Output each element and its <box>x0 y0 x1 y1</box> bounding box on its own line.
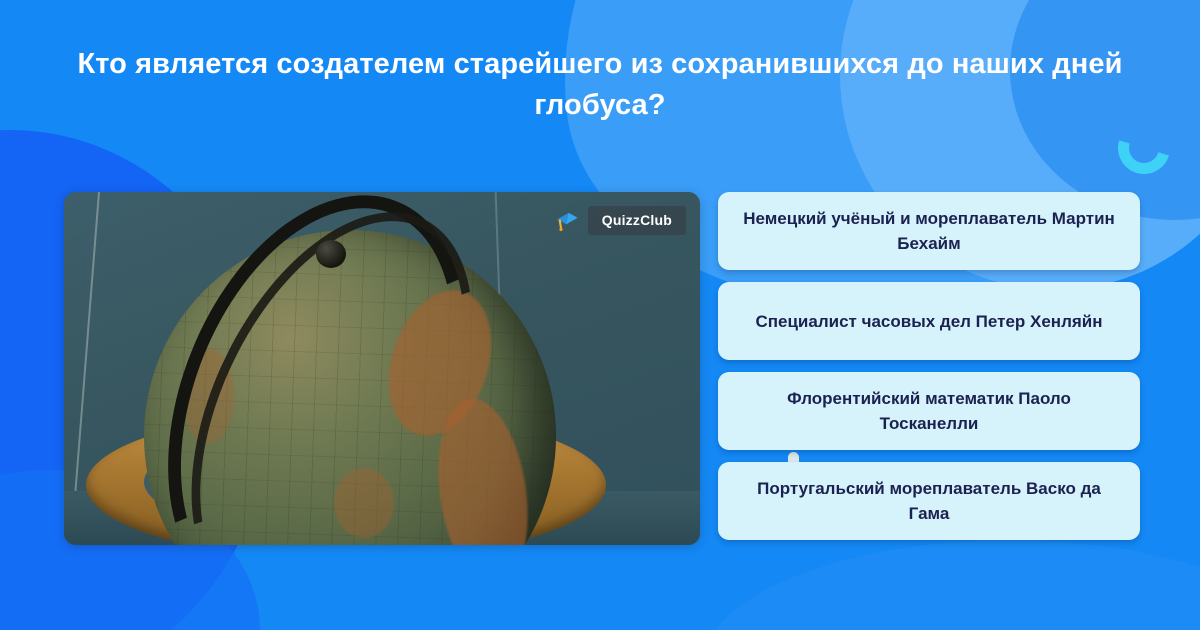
question-title: Кто является создателем старейшего из со… <box>60 44 1140 126</box>
answer-option-label: Специалист часовых дел Петер Хенляйн <box>755 309 1102 334</box>
quizzclub-logo-text: QuizzClub <box>588 206 686 235</box>
answer-option-d[interactable]: Португальский мореплаватель Васко да Гам… <box>718 462 1140 540</box>
answer-option-label: Немецкий учёный и мореплаватель Мартин Б… <box>736 206 1122 256</box>
answer-option-label: Португальский мореплаватель Васко да Гам… <box>736 476 1122 526</box>
answer-option-a[interactable]: Немецкий учёный и мореплаватель Мартин Б… <box>718 192 1140 270</box>
answer-options-list: Немецкий учёный и мореплаватель Мартин Б… <box>718 192 1140 540</box>
question-image: QuizzClub <box>64 192 700 545</box>
answer-option-label: Флорентийский математик Паоло Тосканелли <box>736 386 1122 436</box>
answer-option-c[interactable]: Флорентийский математик Паоло Тосканелли <box>718 372 1140 450</box>
answer-option-b[interactable]: Специалист часовых дел Петер Хенляйн <box>718 282 1140 360</box>
decor-blob-bottom-right <box>700 540 1200 630</box>
globe-pivot-knob <box>316 240 346 268</box>
quizzclub-logo: QuizzClub <box>554 206 686 235</box>
graduation-cap-icon <box>554 208 580 234</box>
